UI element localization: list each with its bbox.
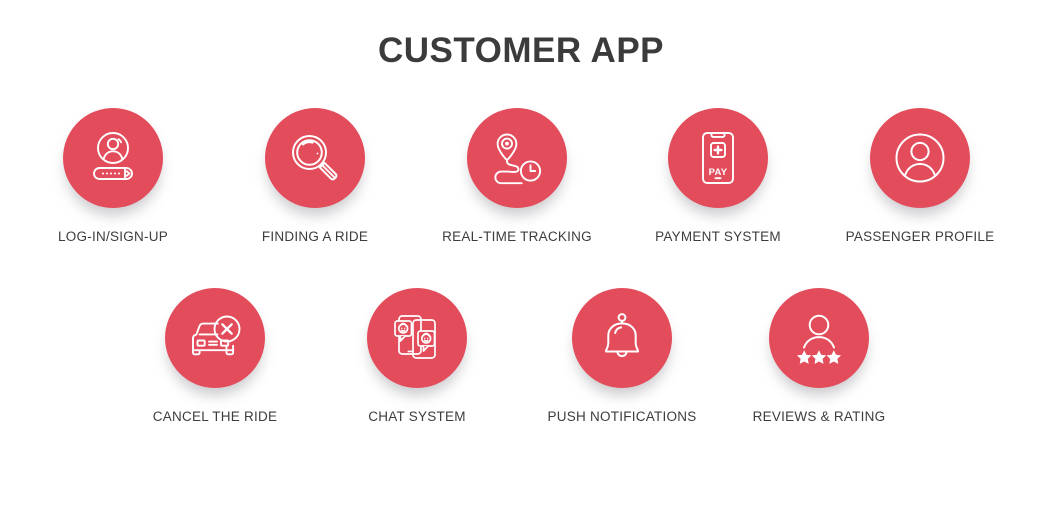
user-login-icon [82,127,144,189]
feature-payment-system[interactable]: PAY PAYMENT SYSTEM [618,108,818,244]
bell-icon [593,309,651,367]
feature-cancel-the-ride[interactable]: CANCEL THE RIDE [115,288,315,424]
magnifier-icon [286,129,344,187]
icon-badge-push-notifications [572,288,672,388]
feature-passenger-profile[interactable]: PASSENGER PROFILE [820,108,1020,244]
feature-label: LOG-IN/SIGN-UP [13,229,213,244]
icon-badge-passenger-profile [870,108,970,208]
circle-chat-system [367,288,467,388]
car-cancel-icon [185,308,245,368]
circle-cancel-the-ride [165,288,265,388]
feature-real-time-tracking[interactable]: REAL-TIME TRACKING [417,108,617,244]
circle-log-in-sign-up [63,108,163,208]
feature-label: CHAT SYSTEM [317,409,517,424]
feature-chat-system[interactable]: CHAT SYSTEM [317,288,517,424]
map-pin-route-clock-icon [487,128,547,188]
circle-real-time-tracking [467,108,567,208]
feature-push-notifications[interactable]: PUSH NOTIFICATIONS [522,288,722,424]
icon-badge-real-time-tracking [467,108,567,208]
icon-badge-reviews-rating [769,288,869,388]
icon-badge-chat-system [367,288,467,388]
phones-chat-icon [388,309,446,367]
circle-push-notifications [572,288,672,388]
customer-app-infographic: CUSTOMER APP [0,0,1042,510]
circle-reviews-rating [769,288,869,388]
star-glyphs [797,350,841,364]
feature-label: FINDING A RIDE [215,229,415,244]
feature-log-in-sign-up[interactable]: LOG-IN/SIGN-UP [13,108,213,244]
phone-pay-icon [689,129,747,187]
circle-passenger-profile [870,108,970,208]
feature-label: PAYMENT SYSTEM [618,229,818,244]
feature-reviews-rating[interactable]: REVIEWS & RATING [719,288,919,424]
user-circle-icon [889,127,951,189]
pay-badge-label: PAY [668,167,768,178]
feature-label: PASSENGER PROFILE [820,229,1020,244]
feature-label: REAL-TIME TRACKING [417,229,617,244]
circle-finding-a-ride [265,108,365,208]
feature-label: PUSH NOTIFICATIONS [522,409,722,424]
circle-payment-system: PAY [668,108,768,208]
icon-badge-payment-system: PAY [668,108,768,208]
page-title: CUSTOMER APP [0,31,1042,71]
feature-label: REVIEWS & RATING [719,409,919,424]
icon-badge-finding-a-ride [265,108,365,208]
feature-finding-a-ride[interactable]: FINDING A RIDE [215,108,415,244]
icon-badge-log-in-sign-up [63,108,163,208]
user-stars-icon [789,308,849,368]
icon-badge-cancel-the-ride [165,288,265,388]
feature-label: CANCEL THE RIDE [115,409,315,424]
